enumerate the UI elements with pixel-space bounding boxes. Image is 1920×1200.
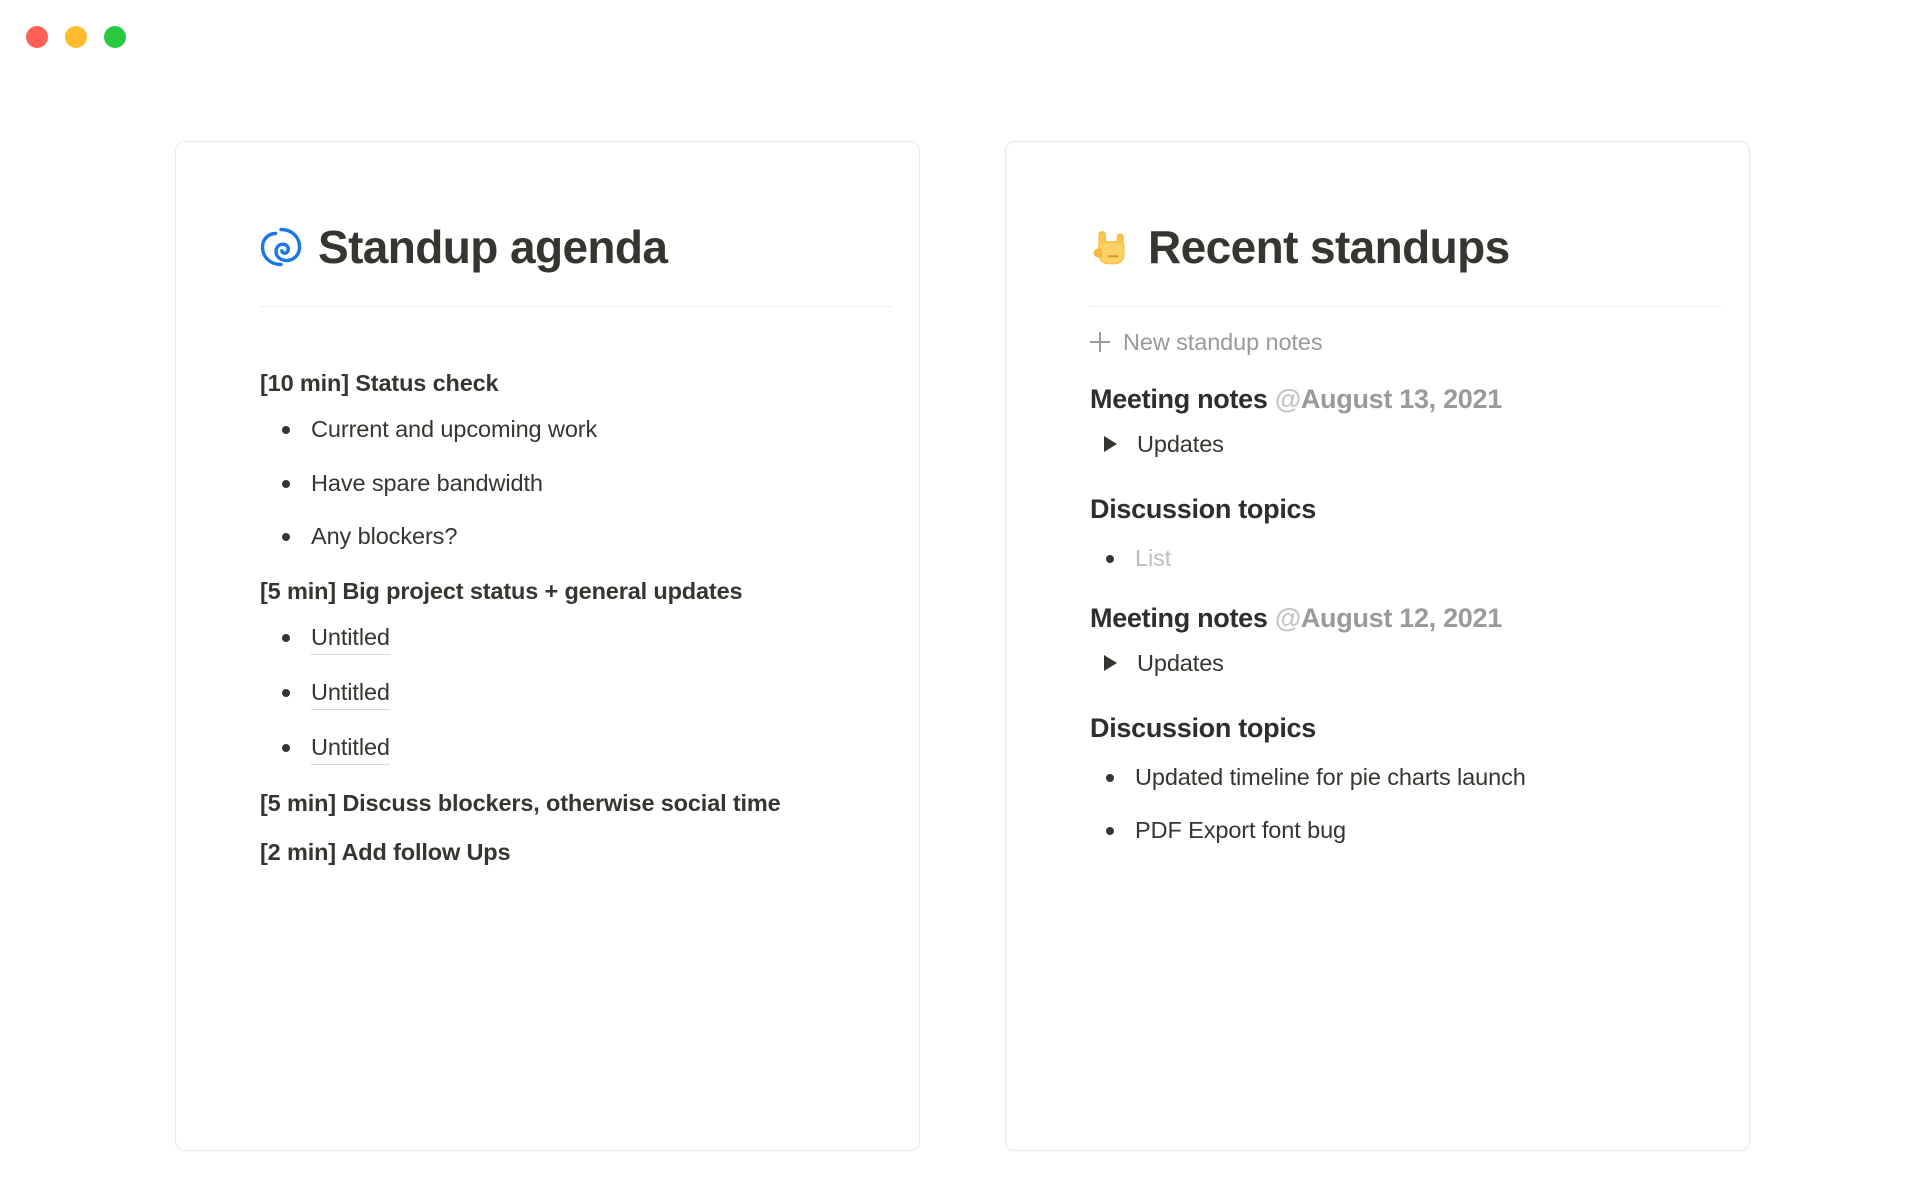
list-item[interactable]: Current and upcoming work: [260, 414, 867, 446]
at-symbol: @: [1275, 384, 1301, 414]
list-item-label: Any blockers?: [311, 521, 457, 553]
list-item-label: Current and upcoming work: [311, 414, 597, 446]
updates-toggle-label: Updates: [1137, 431, 1224, 458]
list-item[interactable]: Have spare bandwidth: [260, 468, 867, 500]
agenda-heading-status-check[interactable]: [10 min] Status check: [260, 367, 867, 400]
bullet-dot-icon: [1106, 555, 1114, 563]
recent-standups-body: New standup notes Meeting notes @August …: [1090, 329, 1697, 848]
updates-toggle[interactable]: Updates: [1090, 431, 1697, 458]
list-item[interactable]: Any blockers?: [260, 521, 867, 553]
bullet-dot-icon: [282, 533, 290, 541]
meeting-notes-label: Meeting notes: [1090, 384, 1268, 414]
untitled-page-link[interactable]: Untitled: [311, 732, 390, 765]
recent-standups-content: Recent standups New standup notes Meetin…: [1006, 142, 1749, 847]
meeting-date[interactable]: @August 13, 2021: [1275, 384, 1502, 414]
list-item[interactable]: PDF Export font bug: [1090, 815, 1697, 847]
close-window-button[interactable]: [26, 26, 48, 48]
page-title: Standup agenda: [260, 222, 867, 273]
list-item[interactable]: Untitled: [260, 677, 867, 710]
title-divider: [1090, 306, 1722, 307]
cyclone-icon[interactable]: [260, 226, 302, 268]
cards-row: Standup agenda [10 min] Status check Cur…: [175, 141, 1750, 1151]
meeting-date-text: August 13, 2021: [1301, 384, 1502, 414]
discussion-topics-heading[interactable]: Discussion topics: [1090, 492, 1697, 527]
agenda-heading-add-follow-ups[interactable]: [2 min] Add follow Ups: [260, 836, 867, 869]
updates-toggle-label: Updates: [1137, 650, 1224, 677]
agenda-body: [10 min] Status check Current and upcomi…: [260, 367, 867, 870]
standup-entry: Meeting notes @August 12, 2021 Updates D…: [1090, 601, 1697, 848]
plus-icon: [1090, 332, 1110, 352]
bullet-dot-icon: [282, 634, 290, 642]
meeting-notes-label: Meeting notes: [1090, 603, 1268, 633]
standup-entry: Meeting notes @August 13, 2021 Updates D…: [1090, 382, 1697, 575]
window-titlebar: [0, 0, 1920, 74]
agenda-heading-big-project-status[interactable]: [5 min] Big project status + general upd…: [260, 575, 867, 608]
new-standup-notes-label: New standup notes: [1123, 329, 1323, 356]
bullet-dot-icon: [1106, 774, 1114, 782]
meeting-date-text: August 12, 2021: [1301, 603, 1502, 633]
bullet-dot-icon: [1106, 827, 1114, 835]
status-check-bullets: Current and upcoming work Have spare ban…: [260, 414, 867, 553]
list-item-label: Updated timeline for pie charts launch: [1135, 762, 1526, 794]
meeting-notes-title[interactable]: Meeting notes @August 12, 2021: [1090, 601, 1697, 636]
meeting-date[interactable]: @August 12, 2021: [1275, 603, 1502, 633]
sign-of-the-horns-icon[interactable]: [1090, 226, 1132, 268]
discussion-topics-heading[interactable]: Discussion topics: [1090, 711, 1697, 746]
untitled-page-link[interactable]: Untitled: [311, 622, 390, 655]
bullet-dot-icon: [282, 744, 290, 752]
meeting-notes-title[interactable]: Meeting notes @August 13, 2021: [1090, 382, 1697, 417]
new-standup-notes-button[interactable]: New standup notes: [1090, 329, 1697, 356]
agenda-heading-discuss-blockers[interactable]: [5 min] Discuss blockers, otherwise soci…: [260, 787, 867, 820]
discussion-topics-list: Updated timeline for pie charts launch P…: [1090, 762, 1697, 847]
at-symbol: @: [1275, 603, 1301, 633]
bullet-dot-icon: [282, 426, 290, 434]
big-project-bullets: Untitled Untitled Untitled: [260, 622, 867, 764]
list-item-placeholder: List: [1135, 543, 1171, 575]
page-canvas: Standup agenda [10 min] Status check Cur…: [0, 74, 1920, 1200]
bullet-dot-icon: [282, 689, 290, 697]
list-item[interactable]: Updated timeline for pie charts launch: [1090, 762, 1697, 794]
minimize-window-button[interactable]: [65, 26, 87, 48]
list-item[interactable]: Untitled: [260, 622, 867, 655]
standup-agenda-card[interactable]: Standup agenda [10 min] Status check Cur…: [175, 141, 920, 1151]
bullet-dot-icon: [282, 480, 290, 488]
list-item-label: PDF Export font bug: [1135, 815, 1346, 847]
page-title-text: Standup agenda: [318, 222, 667, 273]
updates-toggle[interactable]: Updates: [1090, 650, 1697, 677]
untitled-page-link[interactable]: Untitled: [311, 677, 390, 710]
standup-agenda-content: Standup agenda [10 min] Status check Cur…: [176, 142, 919, 869]
page-title: Recent standups: [1090, 222, 1697, 273]
chevron-right-icon[interactable]: [1104, 436, 1117, 452]
title-divider: [260, 306, 892, 307]
list-item-label: Have spare bandwidth: [311, 468, 543, 500]
recent-standups-card[interactable]: Recent standups New standup notes Meetin…: [1005, 141, 1750, 1151]
list-item[interactable]: List: [1090, 543, 1697, 575]
discussion-topics-list: List: [1090, 543, 1697, 575]
traffic-light-group: [26, 26, 126, 48]
chevron-right-icon[interactable]: [1104, 655, 1117, 671]
maximize-window-button[interactable]: [104, 26, 126, 48]
list-item[interactable]: Untitled: [260, 732, 867, 765]
page-title-text: Recent standups: [1148, 222, 1510, 273]
